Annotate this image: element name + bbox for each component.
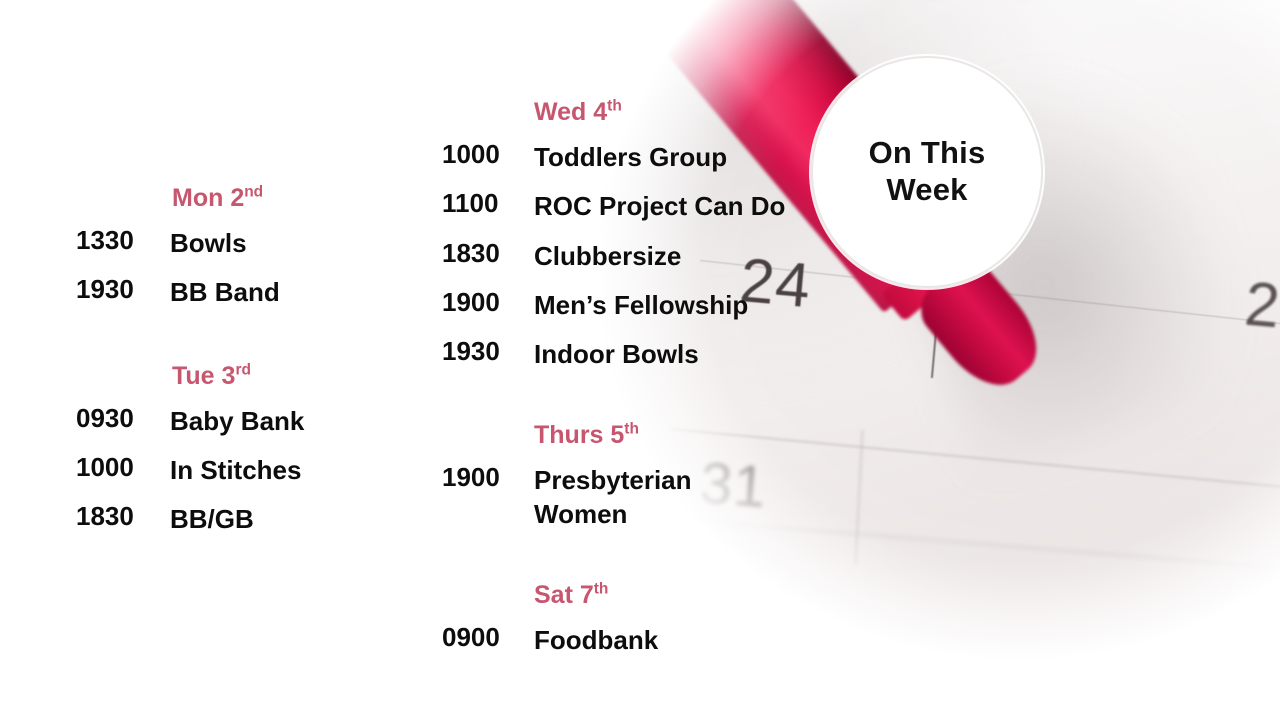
day-heading: Tue 3rd <box>172 364 304 389</box>
event-row: 1930BB Band <box>76 276 304 309</box>
day-heading: Wed 4th <box>534 100 785 125</box>
day-heading-text: Thurs 5 <box>534 421 624 449</box>
badge-line-2: Week <box>886 172 967 207</box>
event-time: 1900 <box>442 464 534 490</box>
event-name: Presbyterian Women <box>534 464 692 531</box>
event-name: Clubbersize <box>534 240 681 273</box>
day-block-spacer <box>76 310 304 364</box>
day-heading: Thurs 5th <box>534 423 785 448</box>
event-time: 1000 <box>442 141 534 167</box>
event-time: 1830 <box>442 240 534 266</box>
day-block-spacer <box>442 371 785 423</box>
day-heading-ordinal: th <box>594 581 609 598</box>
day-heading-text: Sat 7 <box>534 581 594 609</box>
event-time: 1000 <box>76 454 170 480</box>
on-this-week-badge: On This Week <box>811 56 1043 288</box>
event-name: Indoor Bowls <box>534 338 699 371</box>
day-block-wed: Wed 4th1000Toddlers Group1100ROC Project… <box>442 100 785 371</box>
day-block-sat: Sat 7th0900Foodbank <box>442 583 785 657</box>
schedule-column-middle: Wed 4th1000Toddlers Group1100ROC Project… <box>442 100 785 657</box>
event-name: BB Band <box>170 276 280 309</box>
day-heading-ordinal: th <box>607 98 622 115</box>
event-name: Men’s Fellowship <box>534 289 748 322</box>
badge-label: On This Week <box>852 135 1002 208</box>
event-row: 1100ROC Project Can Do <box>442 190 785 223</box>
day-heading-text: Mon 2 <box>172 184 244 212</box>
event-time: 1830 <box>76 503 170 529</box>
day-block-tue: Tue 3rd0930Baby Bank1000In Stitches1830B… <box>76 364 304 537</box>
day-block-mon: Mon 2nd1330Bowls1930BB Band <box>76 186 304 310</box>
event-name: In Stitches <box>170 454 301 487</box>
badge-line-1: On This <box>869 135 986 170</box>
day-heading: Sat 7th <box>534 583 785 608</box>
day-heading: Mon 2nd <box>172 186 304 211</box>
event-time: 1330 <box>76 227 170 253</box>
event-row: 1900Men’s Fellowship <box>442 289 785 322</box>
day-heading-ordinal: rd <box>235 361 251 378</box>
event-name: Bowls <box>170 227 247 260</box>
event-row: 1830Clubbersize <box>442 240 785 273</box>
event-row: 1930Indoor Bowls <box>442 338 785 371</box>
day-heading-text: Wed 4 <box>534 98 607 126</box>
day-heading-ordinal: th <box>624 421 639 438</box>
slide-canvas: 24 31 2 On This Week Mon 2nd1330Bowls193… <box>0 0 1280 720</box>
event-name: Baby Bank <box>170 405 304 438</box>
event-row: 1900Presbyterian Women <box>442 464 785 531</box>
event-name: Foodbank <box>534 624 658 657</box>
event-name: BB/GB <box>170 503 254 536</box>
event-row: 1000Toddlers Group <box>442 141 785 174</box>
schedule-column-left: Mon 2nd1330Bowls1930BB BandTue 3rd0930Ba… <box>76 186 304 536</box>
event-row: 1330Bowls <box>76 227 304 260</box>
day-heading-ordinal: nd <box>244 184 263 201</box>
event-row: 0930Baby Bank <box>76 405 304 438</box>
day-heading-text: Tue 3 <box>172 362 235 390</box>
event-row: 1830BB/GB <box>76 503 304 536</box>
event-time: 1930 <box>442 338 534 364</box>
event-time: 1930 <box>76 276 170 302</box>
day-block-spacer <box>442 531 785 583</box>
event-name: Toddlers Group <box>534 141 727 174</box>
event-time: 1100 <box>442 190 534 216</box>
event-time: 0930 <box>76 405 170 431</box>
event-name: ROC Project Can Do <box>534 190 785 223</box>
event-time: 0900 <box>442 624 534 650</box>
event-time: 1900 <box>442 289 534 315</box>
event-row: 0900Foodbank <box>442 624 785 657</box>
event-row: 1000In Stitches <box>76 454 304 487</box>
day-block-thurs: Thurs 5th1900Presbyterian Women <box>442 423 785 531</box>
